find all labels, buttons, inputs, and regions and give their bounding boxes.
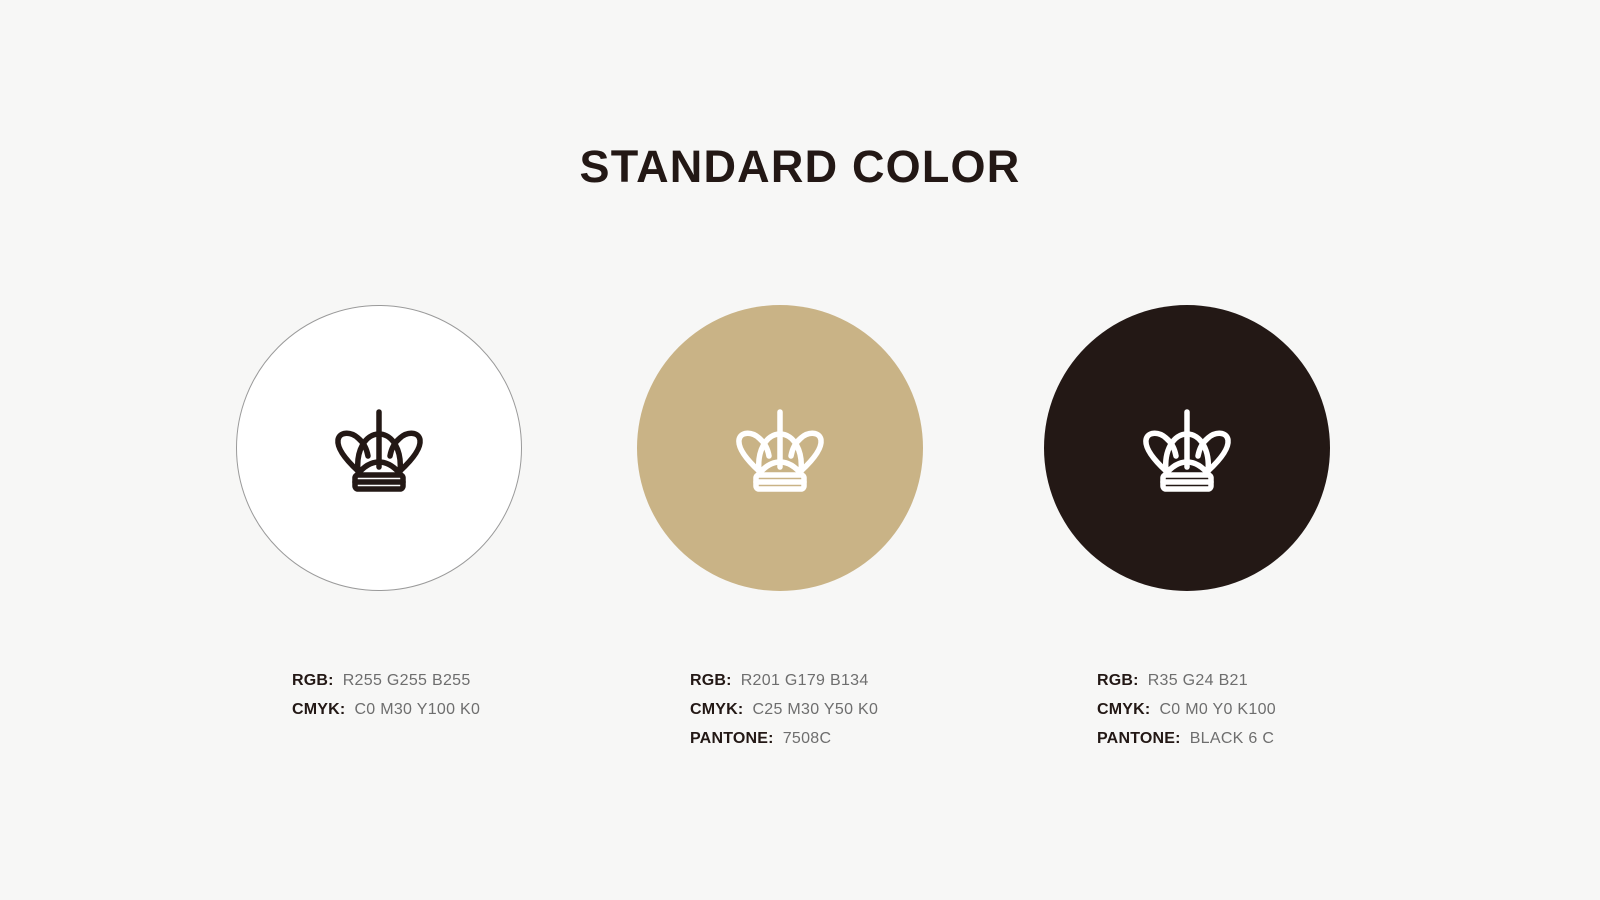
standard-color-page: STANDARD COLOR bbox=[0, 0, 1600, 900]
spec-label-rgb: RGB: bbox=[292, 672, 334, 690]
color-swatch-row bbox=[0, 305, 1600, 605]
spec-label-cmyk: CMYK: bbox=[292, 701, 345, 719]
crown-icon bbox=[728, 408, 832, 494]
spec-value-cmyk: C25 M30 Y50 K0 bbox=[752, 701, 878, 719]
spec-value-rgb: R201 G179 B134 bbox=[741, 672, 869, 690]
color-spec-gold: RGB: R201 G179 B134 CMYK: C25 M30 Y50 K0… bbox=[690, 672, 878, 759]
color-swatch-white[interactable] bbox=[236, 305, 522, 591]
spec-value-rgb: R35 G24 B21 bbox=[1148, 672, 1248, 690]
page-title: STANDARD COLOR bbox=[0, 142, 1600, 192]
spec-line-cmyk: CMYK: C0 M0 Y0 K100 bbox=[1097, 701, 1276, 730]
spec-value-cmyk: C0 M30 Y100 K0 bbox=[354, 701, 480, 719]
spec-line-cmyk: CMYK: C25 M30 Y50 K0 bbox=[690, 701, 878, 730]
spec-label-cmyk: CMYK: bbox=[1097, 701, 1150, 719]
spec-label-pantone: PANTONE: bbox=[690, 730, 774, 748]
color-spec-list: RGB: R255 G255 B255 CMYK: C0 M30 Y100 K0… bbox=[0, 672, 1600, 782]
color-spec-black: RGB: R35 G24 B21 CMYK: C0 M0 Y0 K100 PAN… bbox=[1097, 672, 1276, 759]
spec-line-cmyk: CMYK: C0 M30 Y100 K0 bbox=[292, 701, 480, 730]
color-swatch-black[interactable] bbox=[1044, 305, 1330, 591]
spec-value-pantone: 7508C bbox=[783, 730, 832, 748]
spec-line-rgb: RGB: R201 G179 B134 bbox=[690, 672, 878, 701]
crown-icon bbox=[327, 408, 431, 494]
color-spec-white: RGB: R255 G255 B255 CMYK: C0 M30 Y100 K0 bbox=[292, 672, 480, 730]
spec-label-rgb: RGB: bbox=[690, 672, 732, 690]
spec-line-rgb: RGB: R255 G255 B255 bbox=[292, 672, 480, 701]
swatch-circle-black bbox=[1044, 305, 1330, 591]
swatch-circle-white bbox=[236, 305, 522, 591]
spec-value-rgb: R255 G255 B255 bbox=[343, 672, 471, 690]
color-swatch-gold[interactable] bbox=[637, 305, 923, 591]
spec-label-cmyk: CMYK: bbox=[690, 701, 743, 719]
spec-label-pantone: PANTONE: bbox=[1097, 730, 1181, 748]
spec-line-rgb: RGB: R35 G24 B21 bbox=[1097, 672, 1276, 701]
spec-line-pantone: PANTONE: BLACK 6 C bbox=[1097, 730, 1276, 759]
spec-value-cmyk: C0 M0 Y0 K100 bbox=[1159, 701, 1276, 719]
swatch-circle-gold bbox=[637, 305, 923, 591]
spec-label-rgb: RGB: bbox=[1097, 672, 1139, 690]
spec-value-pantone: BLACK 6 C bbox=[1190, 730, 1275, 748]
spec-line-pantone: PANTONE: 7508C bbox=[690, 730, 878, 759]
crown-icon bbox=[1135, 408, 1239, 494]
